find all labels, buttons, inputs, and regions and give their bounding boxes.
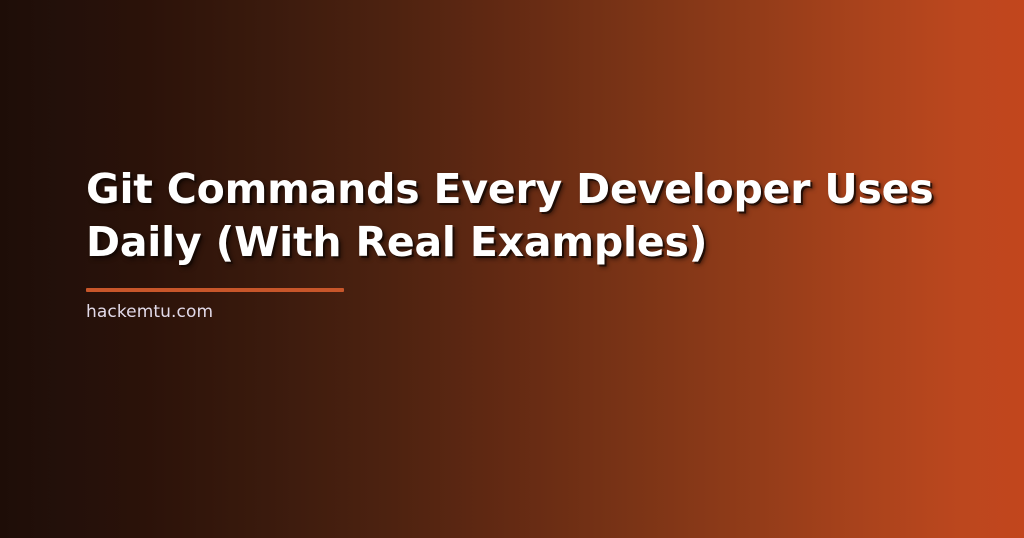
- card-content-block: Git Commands Every Developer Uses Daily …: [86, 163, 966, 269]
- accent-divider: [86, 288, 344, 292]
- site-domain-label: hackemtu.com: [86, 301, 213, 323]
- page-title: Git Commands Every Developer Uses Daily …: [86, 163, 956, 269]
- social-share-card: Git Commands Every Developer Uses Daily …: [0, 0, 1024, 538]
